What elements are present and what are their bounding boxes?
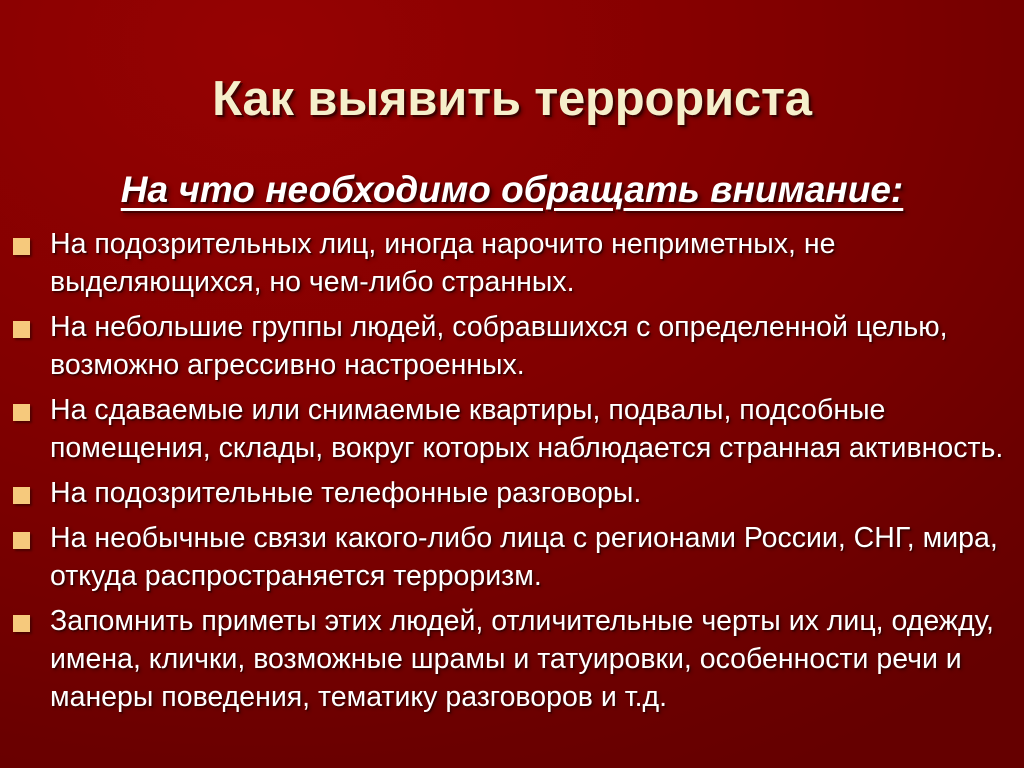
list-item-label: Запомнить приметы этих людей, отличитель… bbox=[50, 602, 1014, 716]
list-item: На необычные связи какого-либо лица с ре… bbox=[10, 519, 1014, 595]
square-bullet-icon bbox=[13, 238, 30, 255]
page-subtitle: На что необходимо обращать внимание: bbox=[121, 168, 904, 212]
list-item-label: На сдаваемые или снимаемые квартиры, под… bbox=[50, 391, 1014, 467]
square-bullet-icon bbox=[13, 487, 30, 504]
square-bullet-icon bbox=[13, 615, 30, 632]
list-item: На подозрительных лиц, иногда нарочито н… bbox=[10, 225, 1014, 301]
list-item: На подозрительные телефонные разговоры. bbox=[10, 474, 1014, 512]
list-item: Запомнить приметы этих людей, отличитель… bbox=[10, 602, 1014, 716]
list-item-label: На подозрительные телефонные разговоры. bbox=[50, 474, 1014, 512]
list-item-label: На необычные связи какого-либо лица с ре… bbox=[50, 519, 1014, 595]
square-bullet-icon bbox=[13, 404, 30, 421]
bullet-list: На подозрительных лиц, иногда нарочито н… bbox=[10, 225, 1014, 723]
square-bullet-icon bbox=[13, 321, 30, 338]
square-bullet-icon bbox=[13, 532, 30, 549]
list-item-label: На небольшие группы людей, собравшихся с… bbox=[50, 308, 1014, 384]
list-item-label: На подозрительных лиц, иногда нарочито н… bbox=[50, 225, 1014, 301]
page-title: Как выявить террориста bbox=[212, 71, 812, 127]
presentation-slide: Как выявить террориста На что необходимо… bbox=[0, 0, 1024, 768]
list-item: На сдаваемые или снимаемые квартиры, под… bbox=[10, 391, 1014, 467]
list-item: На небольшие группы людей, собравшихся с… bbox=[10, 308, 1014, 384]
